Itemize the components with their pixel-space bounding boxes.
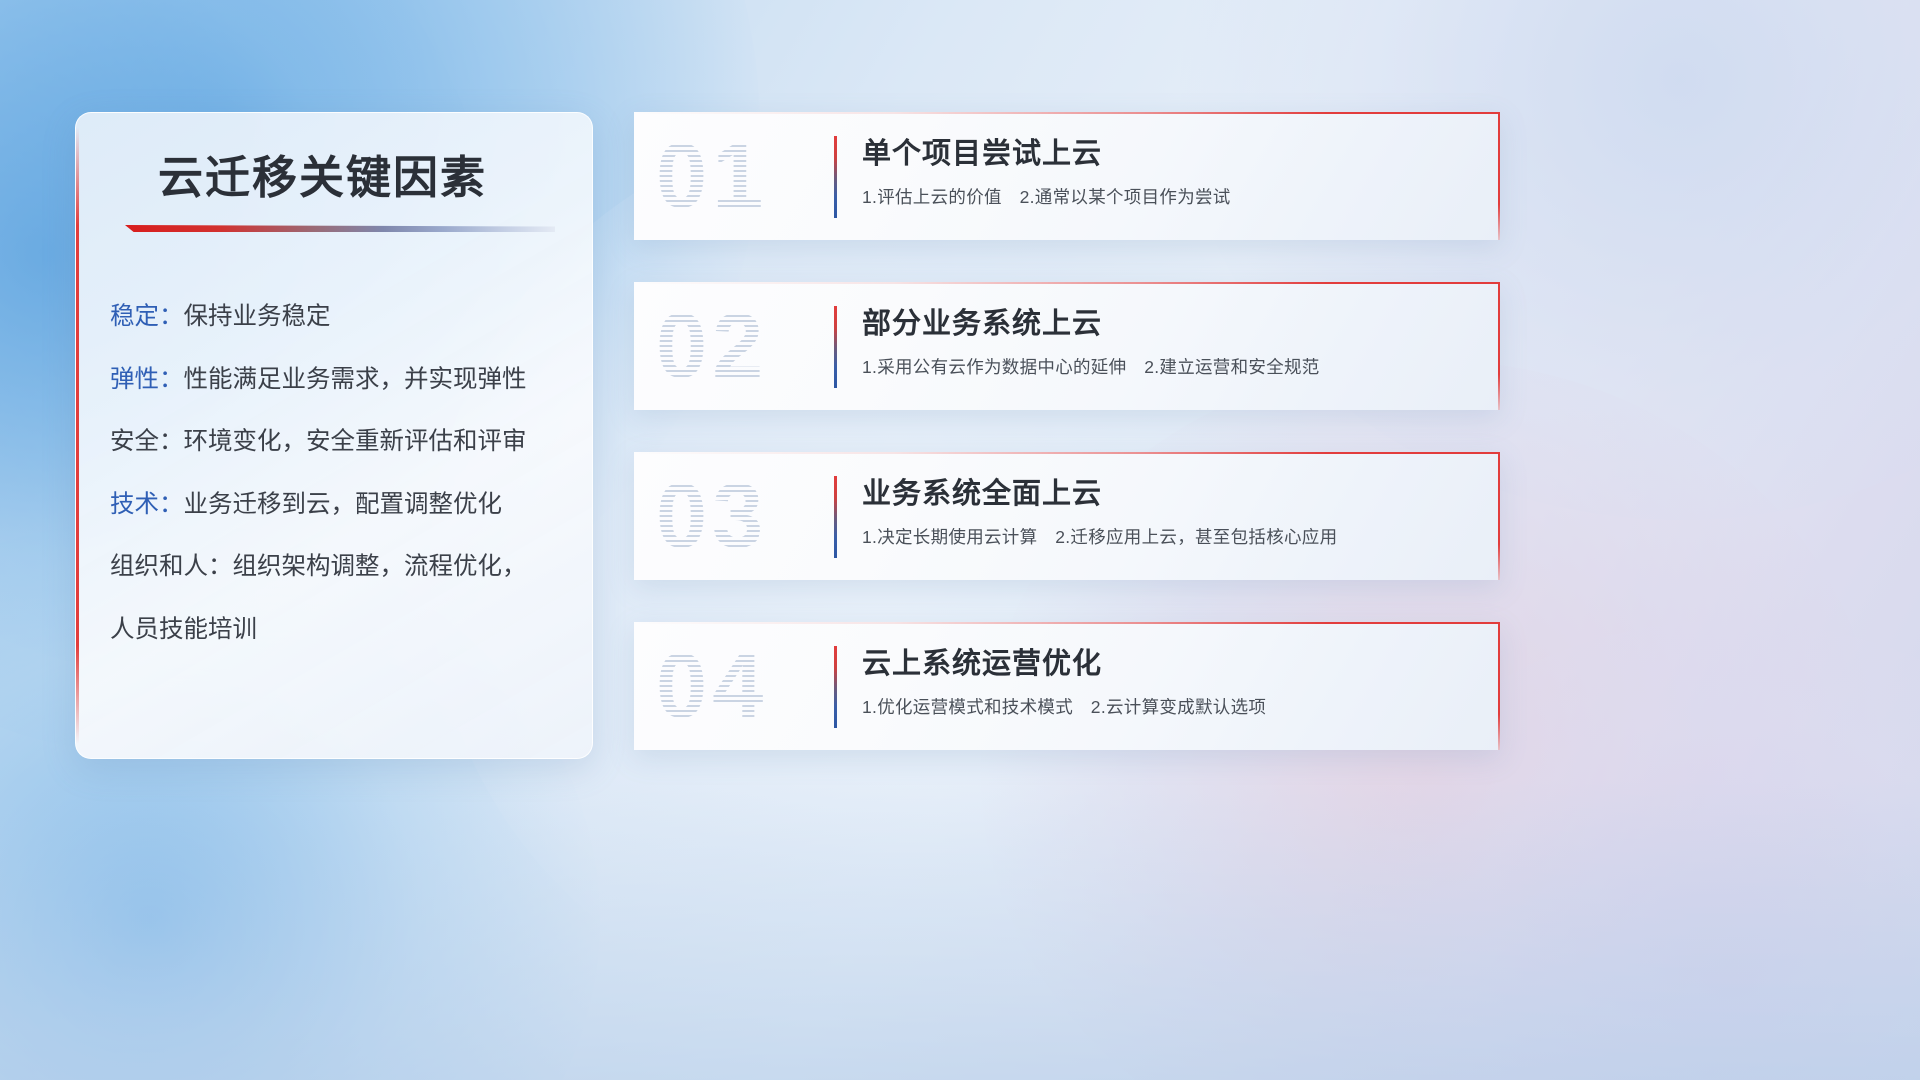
list-item: 技术：业务迁移到云，配置调整优化 (110, 493, 580, 518)
card-right-border (1498, 112, 1500, 240)
stage-number-watermark: 02 (656, 290, 836, 402)
stage-number-watermark: 04 (656, 630, 836, 742)
card-top-border (634, 282, 1500, 284)
stage-title: 单个项目尝试上云 (862, 130, 1102, 172)
card-top-border (634, 112, 1500, 114)
list-item-label: 弹性： (110, 366, 184, 393)
page-title: 云迁移关键因素 (158, 151, 578, 205)
card-left-red-accent (76, 127, 79, 744)
stage-card-03[interactable]: 03 业务系统全面上云 1.决定长期使用云计算 2.迁移应用上云，甚至包括核心应… (634, 452, 1500, 580)
stage-description: 1.采用公有云作为数据中心的延伸 2.建立运营和安全规范 (862, 354, 1320, 379)
list-item-value: 组织架构调整，流程优化， (233, 553, 527, 580)
list-item-value: 性能满足业务需求，并实现弹性 (184, 366, 527, 393)
stage-accent-bar (834, 646, 837, 728)
list-item-label: 稳定： (110, 303, 184, 330)
list-item-value: 环境变化，安全重新评估和评审 (184, 428, 527, 455)
list-item-label: 技术： (110, 491, 184, 518)
list-item: 安全：环境变化，安全重新评估和评审 (110, 430, 580, 455)
key-factors-card: 云迁移关键因素 稳定：保持业务稳定 弹性：性能满足业务需求，并实现弹性 安全：环… (75, 112, 593, 759)
stage-card-04[interactable]: 04 云上系统运营优化 1.优化运营模式和技术模式 2.云计算变成默认选项 (634, 622, 1500, 750)
list-item-label: 安全： (110, 428, 184, 455)
key-factors-list: 稳定：保持业务稳定 弹性：性能满足业务需求，并实现弹性 安全：环境变化，安全重新… (110, 305, 580, 642)
stage-description: 1.决定长期使用云计算 2.迁移应用上云，甚至包括核心应用 (862, 524, 1337, 549)
background-bottom-fade (0, 780, 1920, 1080)
stage-description: 1.评估上云的价值 2.通常以某个项目作为尝试 (862, 184, 1231, 209)
card-right-border (1498, 622, 1500, 750)
list-item-value: 人员技能培训 (110, 616, 257, 643)
list-item: 人员技能培训 (110, 618, 580, 643)
stage-title: 部分业务系统上云 (862, 300, 1102, 342)
list-item: 弹性：性能满足业务需求，并实现弹性 (110, 368, 580, 393)
stage-accent-bar (834, 306, 837, 388)
migration-stage-list: 01 单个项目尝试上云 1.评估上云的价值 2.通常以某个项目作为尝试 02 部… (634, 112, 1500, 750)
stage-number-watermark: 01 (656, 120, 836, 232)
title-underline (125, 225, 555, 232)
stage-title: 业务系统全面上云 (862, 470, 1102, 512)
list-item: 组织和人：组织架构调整，流程优化， (110, 555, 580, 580)
stage-title: 云上系统运营优化 (862, 640, 1102, 682)
stage-number-watermark: 03 (656, 460, 836, 572)
list-item: 稳定：保持业务稳定 (110, 305, 580, 330)
list-item-value: 业务迁移到云，配置调整优化 (184, 491, 503, 518)
stage-card-02[interactable]: 02 部分业务系统上云 1.采用公有云作为数据中心的延伸 2.建立运营和安全规范 (634, 282, 1500, 410)
stage-description: 1.优化运营模式和技术模式 2.云计算变成默认选项 (862, 694, 1266, 719)
card-right-border (1498, 452, 1500, 580)
list-item-value: 保持业务稳定 (184, 303, 331, 330)
card-top-border (634, 452, 1500, 454)
list-item-label: 组织和人： (110, 553, 233, 580)
stage-accent-bar (834, 136, 837, 218)
card-right-border (1498, 282, 1500, 410)
stage-card-01[interactable]: 01 单个项目尝试上云 1.评估上云的价值 2.通常以某个项目作为尝试 (634, 112, 1500, 240)
stage-accent-bar (834, 476, 837, 558)
card-top-border (634, 622, 1500, 624)
